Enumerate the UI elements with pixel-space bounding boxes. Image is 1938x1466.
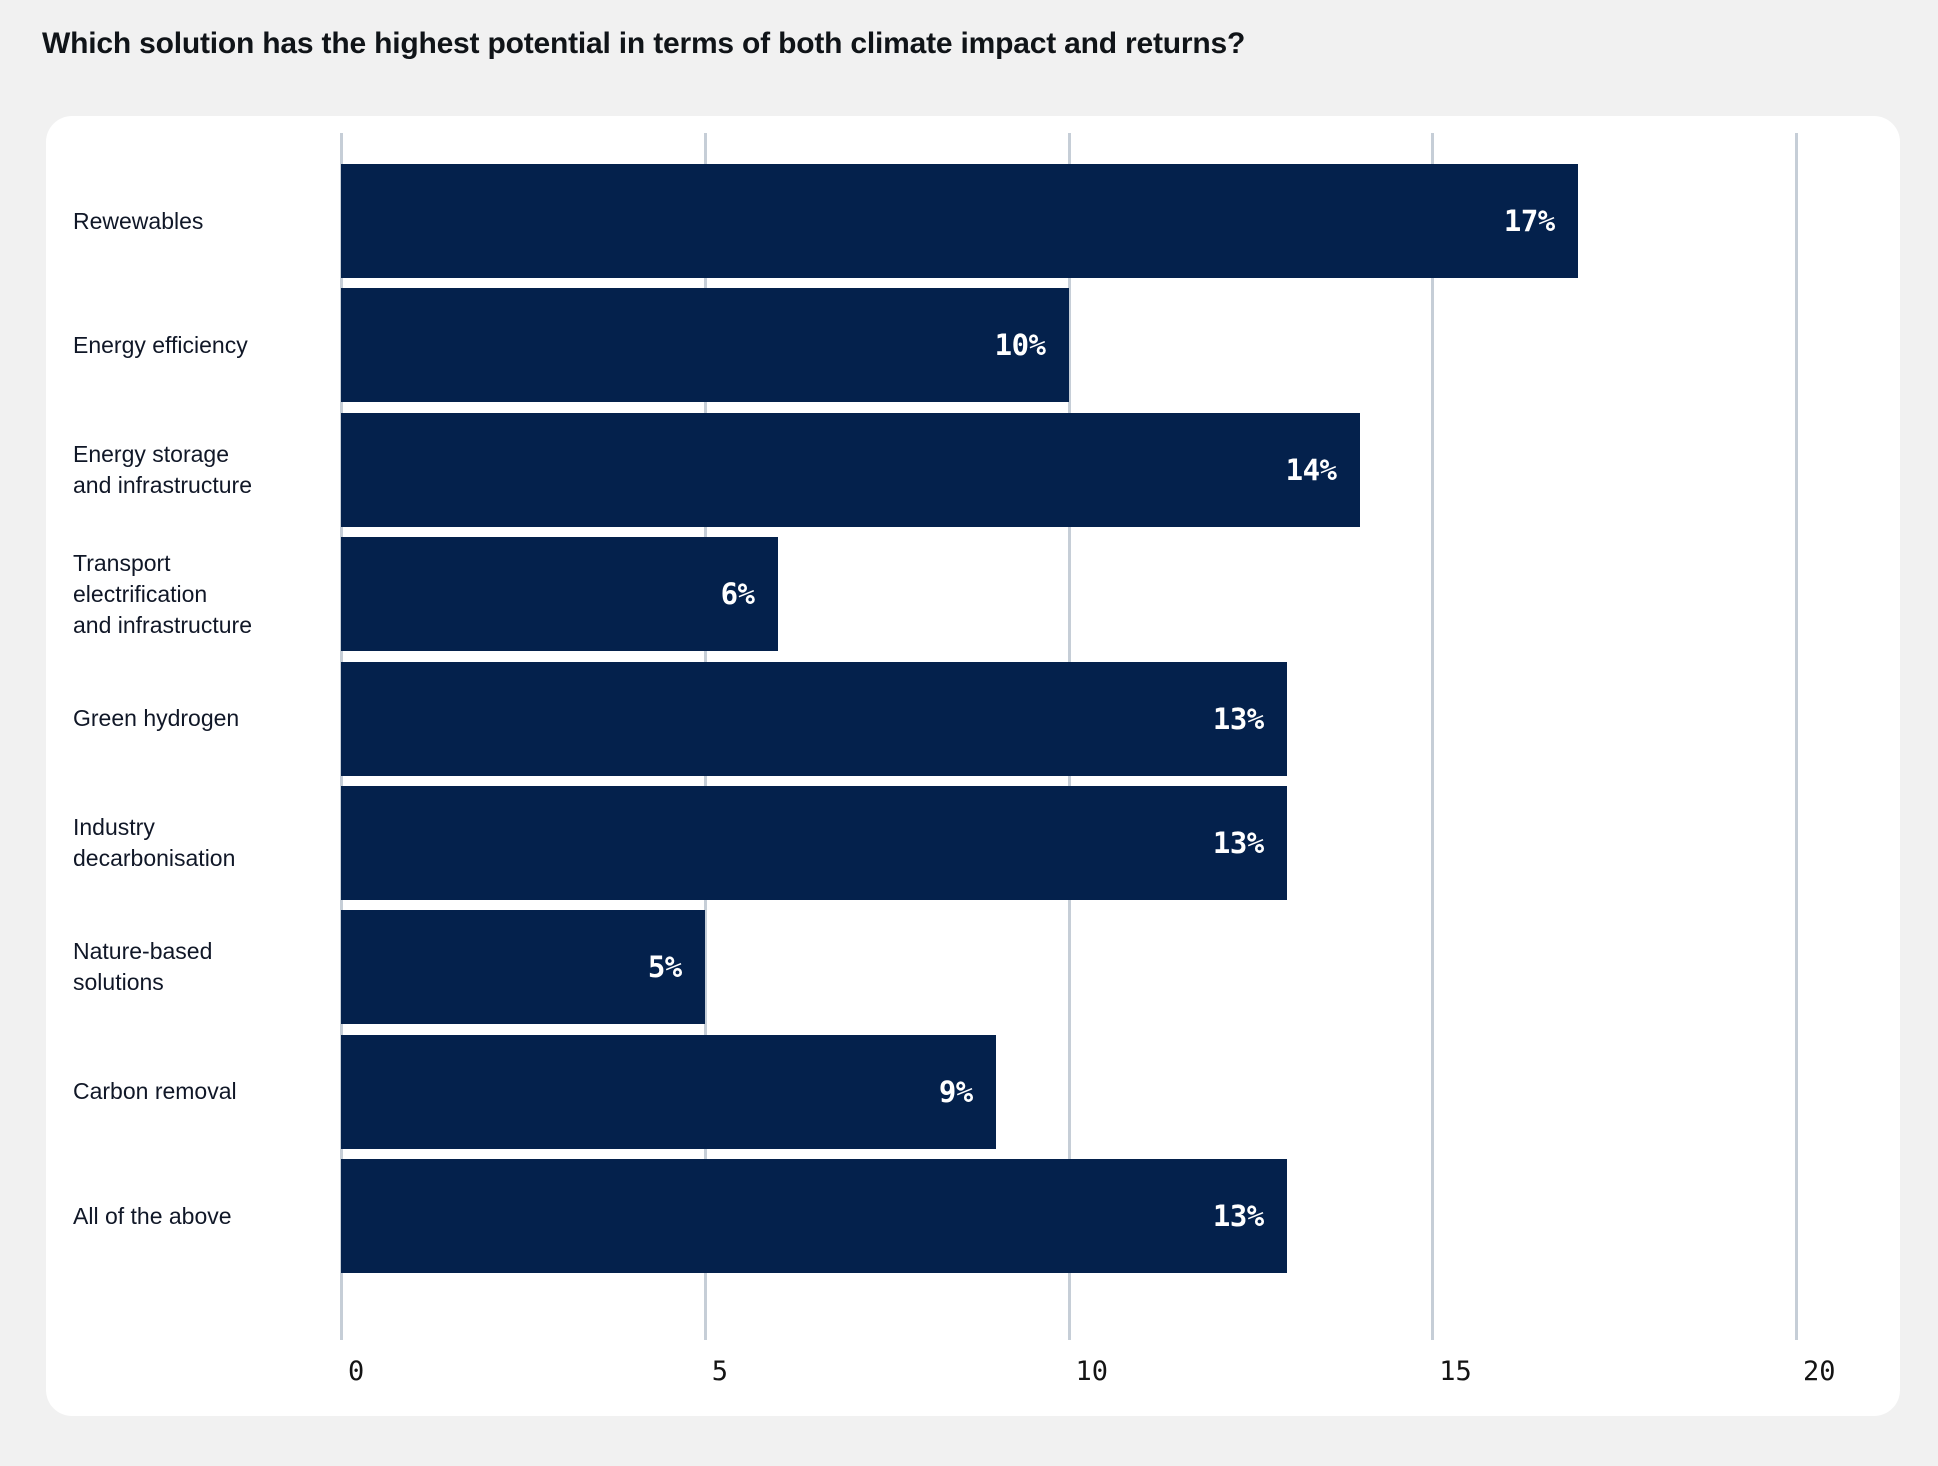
- plot-area: 17%10%14%6%13%13%5%9%13% RewewablesEnerg…: [46, 116, 1900, 1416]
- x-axis: 05101520: [46, 116, 1900, 1416]
- x-tick-label-20: 20: [1803, 1356, 1836, 1387]
- chart-card: 17%10%14%6%13%13%5%9%13% RewewablesEnerg…: [46, 116, 1900, 1416]
- chart-page: Which solution has the highest potential…: [0, 0, 1938, 1466]
- page-title: Which solution has the highest potential…: [42, 27, 1245, 61]
- x-tick-label-15: 15: [1439, 1356, 1472, 1387]
- x-tick-label-10: 10: [1076, 1356, 1109, 1387]
- x-tick-label-0: 0: [348, 1356, 364, 1387]
- x-tick-label-5: 5: [712, 1356, 728, 1387]
